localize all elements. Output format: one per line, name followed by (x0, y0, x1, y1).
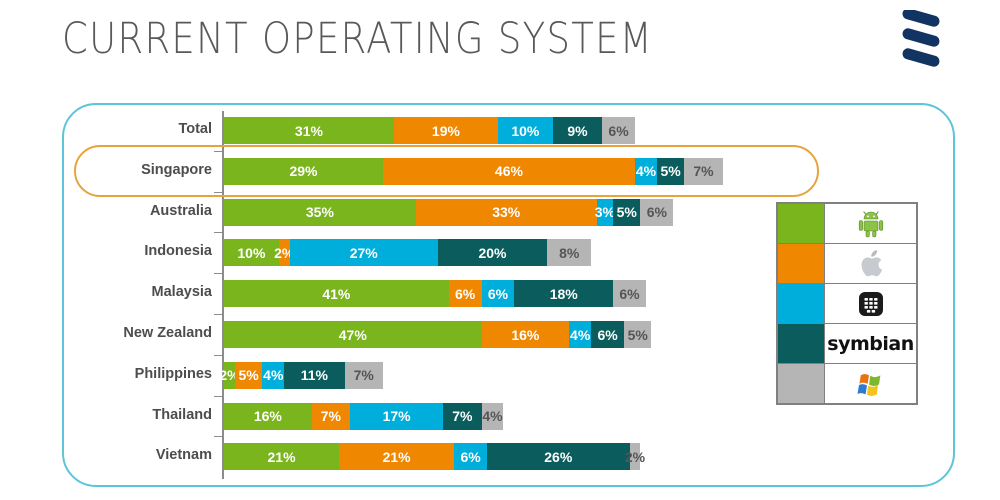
bar-segment-teal: 18% (514, 280, 613, 307)
row-label-singapore: Singapore (32, 162, 212, 178)
bar-segment-orange: 16% (482, 321, 570, 348)
table-row: Vietnam21%21%6%26%2% (64, 443, 824, 470)
legend-swatch-blackberry (778, 284, 825, 323)
bar-segment-label: 7% (452, 408, 472, 424)
bar-segment-label: 11% (301, 367, 328, 383)
bar-segment-gray: 2% (630, 443, 641, 470)
axis-tick (214, 151, 222, 152)
bar-segment-label: 5% (628, 327, 648, 343)
bar-segment-label: 26% (544, 449, 572, 465)
row-label-indonesia: Indonesia (32, 243, 212, 259)
symbian-wordmark: symbian (827, 333, 913, 355)
row-label-malaysia: Malaysia (32, 284, 212, 300)
bar-segment-label: 20% (478, 245, 506, 261)
row-label-thailand: Thailand (32, 407, 212, 423)
bar-segment-gray: 6% (640, 199, 673, 226)
bar-segment-teal: 20% (438, 239, 548, 266)
blackberry-icon (825, 284, 916, 323)
bar-segment-label: 31% (295, 123, 323, 139)
bar-segment-orange: 21% (339, 443, 454, 470)
bar-segment-orange: 7% (312, 403, 350, 430)
bar-segment-label: 19% (432, 123, 460, 139)
bar-segment-label: 6% (455, 286, 475, 302)
bar-segment-gray: 7% (684, 158, 722, 185)
bar-segment-label: 8% (559, 245, 579, 261)
bar-segment-gray: 4% (482, 403, 504, 430)
page-title: CURRENT OPERATING SYSTEM (62, 14, 653, 64)
bar-segment-green: 16% (224, 403, 312, 430)
legend-item-blackberry (778, 284, 916, 324)
axis-tick (214, 232, 222, 233)
bar-segment-label: 9% (567, 123, 587, 139)
symbian-icon: symbian (825, 324, 916, 363)
row-label-australia: Australia (32, 203, 212, 219)
axis-tick (214, 355, 222, 356)
bar-segment-green: 2% (224, 362, 235, 389)
bar-segment-gray: 7% (345, 362, 383, 389)
bar-segment-label: 33% (492, 204, 520, 220)
bar-segment-green: 47% (224, 321, 482, 348)
bar-segment-label: 35% (306, 204, 334, 220)
bar-segment-label: 6% (460, 449, 480, 465)
bar-segment-label: 5% (617, 204, 637, 220)
bar-segment-teal: 5% (657, 158, 684, 185)
bar-segment-label: 4% (482, 408, 502, 424)
bar-segment-cyan: 4% (569, 321, 591, 348)
stacked-bar: 2%5%4%11%7% (224, 362, 383, 389)
bar-segment-orange: 2% (279, 239, 290, 266)
bar-segment-orange: 6% (449, 280, 482, 307)
bar-segment-label: 6% (597, 327, 617, 343)
legend-item-windows (778, 364, 916, 403)
bar-segment-label: 7% (354, 367, 374, 383)
bar-segment-label: 21% (383, 449, 411, 465)
bar-segment-label: 21% (268, 449, 296, 465)
stacked-bar-chart: Total31%19%10%9%6%Singapore29%46%4%5%7%A… (64, 105, 824, 489)
legend-swatch-apple (778, 244, 825, 283)
bar-segment-label: 3% (595, 204, 615, 220)
bar-segment-label: 16% (254, 408, 282, 424)
table-row: Thailand16%7%17%7%4% (64, 403, 824, 430)
stacked-bar: 31%19%10%9%6% (224, 117, 635, 144)
bar-segment-label: 27% (350, 245, 378, 261)
axis-tick (214, 436, 222, 437)
bar-segment-teal: 5% (613, 199, 640, 226)
bar-segment-label: 6% (608, 123, 628, 139)
row-label-new-zealand: New Zealand (32, 325, 212, 341)
stacked-bar: 29%46%4%5%7% (224, 158, 723, 185)
bar-segment-gray: 8% (547, 239, 591, 266)
bar-segment-cyan: 4% (262, 362, 284, 389)
bar-segment-label: 29% (289, 163, 317, 179)
bar-segment-label: 41% (322, 286, 350, 302)
legend-item-apple (778, 244, 916, 284)
axis-tick (214, 273, 222, 274)
bar-segment-label: 4% (263, 367, 283, 383)
legend-item-android (778, 204, 916, 244)
axis-tick (214, 396, 222, 397)
bar-segment-cyan: 6% (482, 280, 515, 307)
table-row: Philippines2%5%4%11%7% (64, 362, 824, 389)
bar-segment-label: 7% (321, 408, 341, 424)
bar-segment-label: 7% (693, 163, 713, 179)
bar-segment-cyan: 27% (290, 239, 438, 266)
bar-segment-cyan: 10% (498, 117, 553, 144)
bar-segment-green: 41% (224, 280, 449, 307)
bar-segment-orange: 46% (383, 158, 635, 185)
bar-segment-cyan: 6% (454, 443, 487, 470)
bar-segment-teal: 6% (591, 321, 624, 348)
bar-segment-gray: 5% (624, 321, 651, 348)
axis-tick (214, 314, 222, 315)
bar-segment-label: 6% (647, 204, 667, 220)
bar-segment-label: 47% (339, 327, 367, 343)
stacked-bar: 41%6%6%18%6% (224, 280, 646, 307)
row-label-philippines: Philippines (32, 366, 212, 382)
bar-segment-cyan: 17% (350, 403, 443, 430)
table-row: Singapore29%46%4%5%7% (64, 158, 824, 185)
apple-icon (825, 244, 916, 283)
windows-icon (825, 364, 916, 403)
bar-segment-teal: 7% (443, 403, 481, 430)
bar-segment-teal: 11% (284, 362, 344, 389)
table-row: Total31%19%10%9%6% (64, 117, 824, 144)
bar-segment-label: 5% (239, 367, 259, 383)
bar-segment-green: 31% (224, 117, 394, 144)
bar-segment-cyan: 4% (635, 158, 657, 185)
bar-segment-label: 46% (495, 163, 523, 179)
bar-segment-orange: 19% (394, 117, 498, 144)
bar-segment-label: 17% (383, 408, 411, 424)
bar-segment-label: 4% (570, 327, 590, 343)
table-row: Australia35%33%3%5%6% (64, 199, 824, 226)
row-label-total: Total (32, 121, 212, 137)
table-row: Indonesia10%2%27%20%8% (64, 239, 824, 266)
legend-item-symbian: symbian (778, 324, 916, 364)
bar-segment-label: 5% (660, 163, 680, 179)
table-row: New Zealand47%16%4%6%5% (64, 321, 824, 348)
bar-segment-green: 21% (224, 443, 339, 470)
axis-tick (214, 192, 222, 193)
bar-segment-teal: 26% (487, 443, 629, 470)
bar-segment-label: 6% (488, 286, 508, 302)
stacked-bar: 10%2%27%20%8% (224, 239, 591, 266)
stacked-bar: 35%33%3%5%6% (224, 199, 673, 226)
stacked-bar: 16%7%17%7%4% (224, 403, 503, 430)
legend-swatch-android (778, 204, 825, 243)
row-label-vietnam: Vietnam (32, 447, 212, 463)
bar-segment-green: 29% (224, 158, 383, 185)
bar-segment-gray: 6% (613, 280, 646, 307)
ericsson-logo (890, 10, 952, 72)
bar-segment-green: 10% (224, 239, 279, 266)
bar-segment-teal: 9% (553, 117, 602, 144)
android-icon (825, 204, 916, 243)
bar-segment-gray: 6% (602, 117, 635, 144)
legend-panel: symbian (776, 202, 918, 405)
bar-segment-orange: 33% (416, 199, 597, 226)
bar-segment-label: 10% (511, 123, 539, 139)
stacked-bar: 21%21%6%26%2% (224, 443, 640, 470)
stacked-bar: 47%16%4%6%5% (224, 321, 651, 348)
legend-swatch-symbian (778, 324, 825, 363)
bar-segment-label: 16% (511, 327, 539, 343)
bar-segment-label: 18% (550, 286, 578, 302)
bar-segment-cyan: 3% (597, 199, 613, 226)
bar-segment-label: 10% (237, 245, 265, 261)
bar-segment-label: 6% (619, 286, 639, 302)
bar-segment-label: 4% (636, 163, 656, 179)
table-row: Malaysia41%6%6%18%6% (64, 280, 824, 307)
chart-card: Total31%19%10%9%6%Singapore29%46%4%5%7%A… (62, 103, 955, 487)
legend-swatch-windows (778, 364, 825, 403)
bar-segment-orange: 5% (235, 362, 262, 389)
bar-segment-green: 35% (224, 199, 416, 226)
